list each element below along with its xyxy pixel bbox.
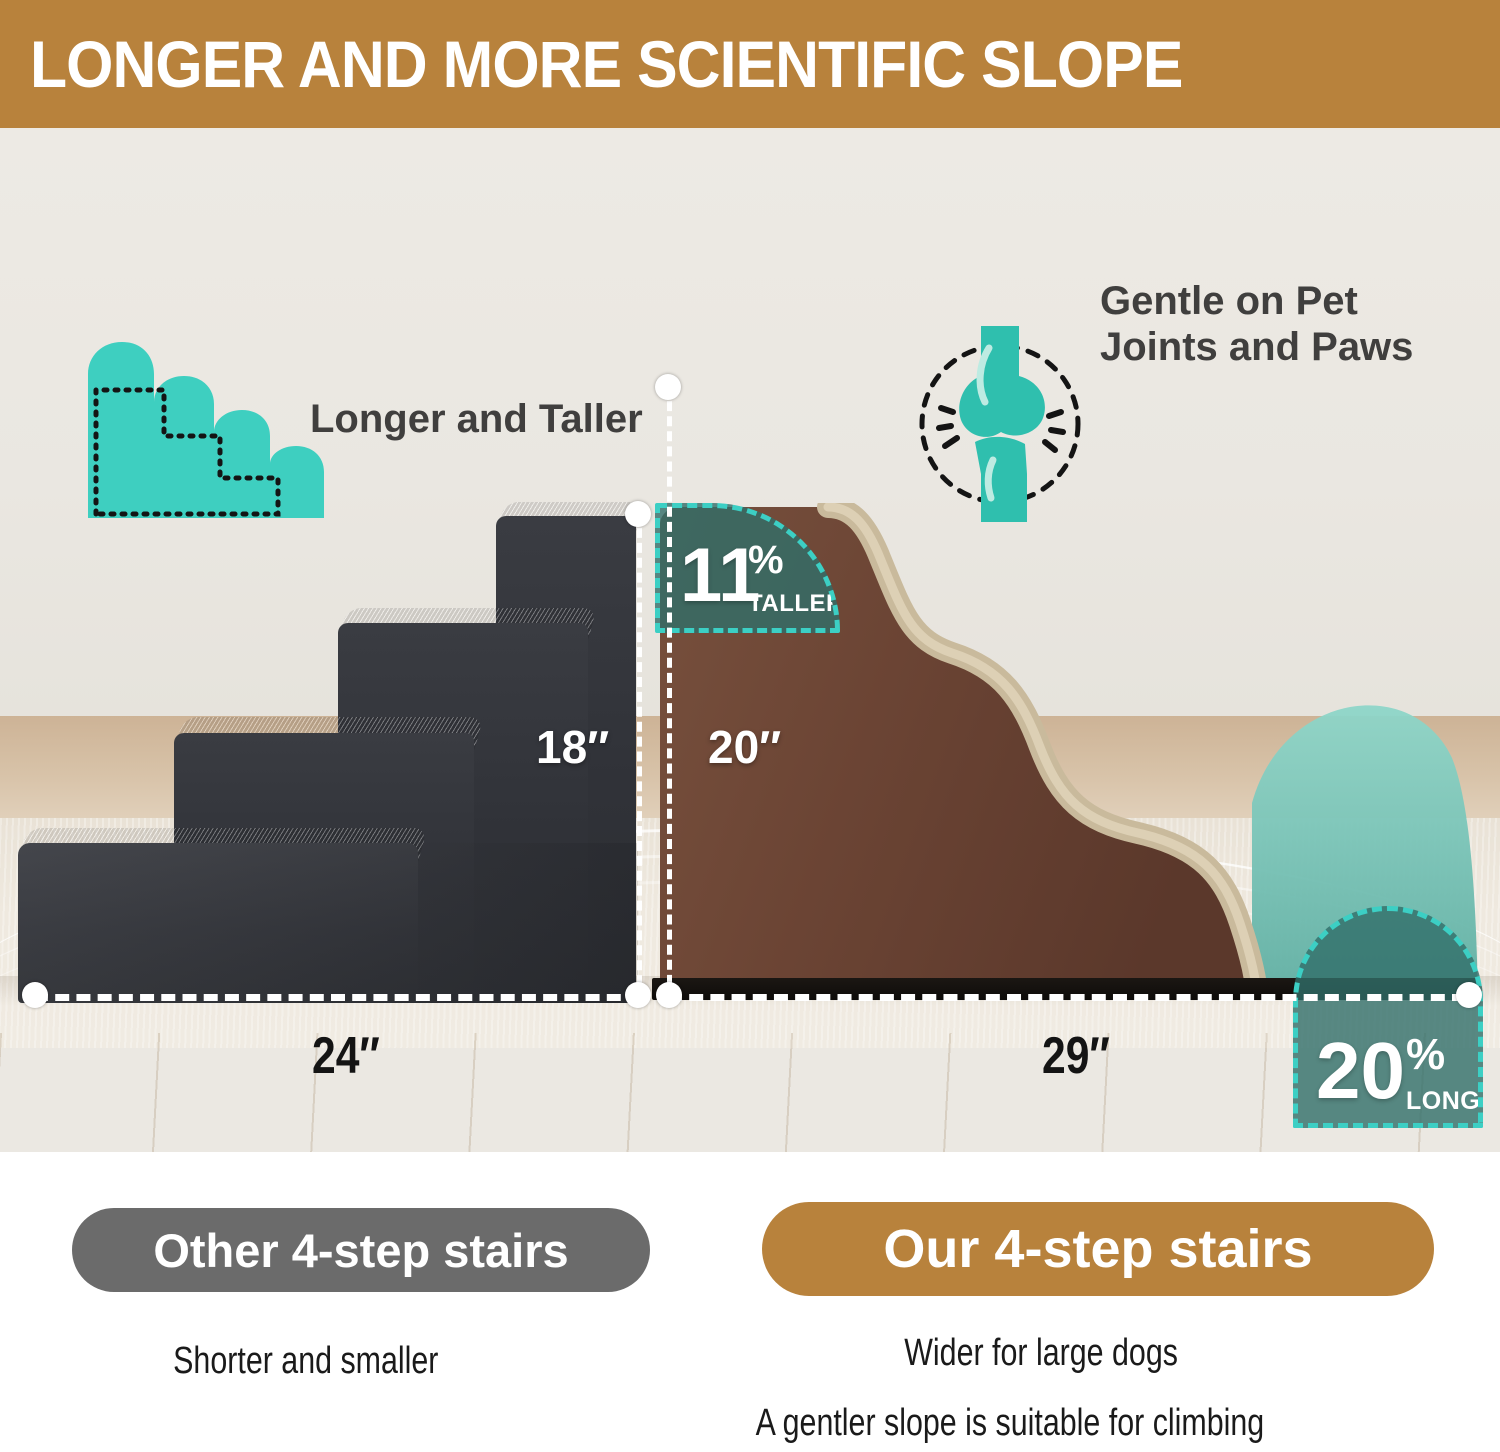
our-width-line bbox=[668, 994, 1466, 1001]
measure-dot bbox=[625, 982, 651, 1008]
our-width-label: 29″ bbox=[1042, 1026, 1110, 1086]
badge-longer-percent: % bbox=[1406, 1033, 1445, 1077]
banner-title: LONGER AND MORE SCIENTIFIC SLOPE bbox=[30, 26, 1182, 102]
measure-dot bbox=[625, 501, 651, 527]
caption-our-1: Wider for large dogs bbox=[904, 1332, 1178, 1375]
badge-longer-number: 20 bbox=[1316, 1031, 1405, 1111]
badge-taller-percent: % bbox=[748, 540, 784, 580]
feature-label-gentle-line1: Gentle on Pet bbox=[1100, 278, 1358, 324]
feature-label-gentle-line2: Joints and Paws bbox=[1100, 324, 1413, 370]
measure-dot bbox=[655, 374, 681, 400]
other-height-line bbox=[637, 513, 642, 1000]
header-banner: LONGER AND MORE SCIENTIFIC SLOPE bbox=[0, 0, 1500, 128]
badge-longer-word: LONGER bbox=[1406, 1089, 1483, 1114]
product-photo-stage: 11 % TALLER 20 % LONGER 18″ 20″ 24″ 29″ bbox=[0, 128, 1500, 1152]
floor-plank-seams bbox=[0, 1033, 1500, 1152]
pet-joint-icon bbox=[915, 324, 1085, 524]
caption-other-1: Shorter and smaller bbox=[173, 1340, 438, 1383]
our-height-line bbox=[667, 386, 672, 1000]
caption-our-2: A gentler slope is suitable for climbing bbox=[756, 1402, 1265, 1445]
infographic-page: LONGER AND MORE SCIENTIFIC SLOPE bbox=[0, 0, 1500, 1452]
comparison-footer: Other 4-step stairs Our 4-step stairs Sh… bbox=[0, 1152, 1500, 1452]
our-height-label: 20″ bbox=[708, 720, 781, 774]
measure-dot bbox=[1456, 982, 1482, 1008]
badge-longer: 20 % LONGER bbox=[1293, 906, 1483, 1128]
measure-dot bbox=[656, 982, 682, 1008]
other-width-line bbox=[34, 994, 642, 1001]
badge-taller-word: TALLER bbox=[748, 592, 840, 616]
pill-other-stairs[interactable]: Other 4-step stairs bbox=[72, 1208, 650, 1292]
pill-our-stairs[interactable]: Our 4-step stairs bbox=[762, 1202, 1434, 1296]
measure-dot bbox=[22, 982, 48, 1008]
other-width-label: 24″ bbox=[312, 1026, 380, 1086]
stairs-shading bbox=[18, 843, 638, 1003]
feature-label-longer-taller: Longer and Taller bbox=[310, 396, 643, 442]
other-height-label: 18″ bbox=[536, 720, 609, 774]
